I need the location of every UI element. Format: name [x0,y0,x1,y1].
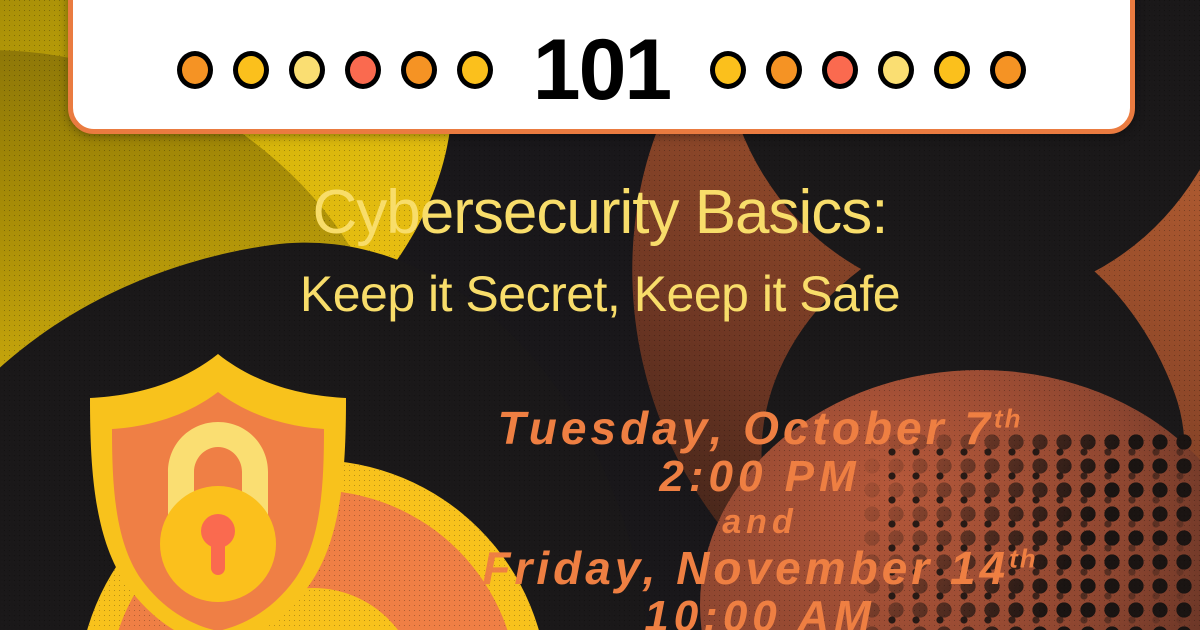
shield-lock-icon [68,348,368,630]
second-time-line: 10:00 AM [360,593,1160,630]
banner-dots-right [710,51,1026,89]
poster-canvas: Lunch and Learn 101 Cybersecurity Basic [0,0,1200,630]
banner-dot [289,51,325,89]
course-number: 101 [511,27,693,113]
first-date-line: Tuesday, October 7th [360,404,1160,453]
banner-dot [878,51,914,89]
first-time-line: 2:00 PM [360,453,1160,501]
banner-cut-off-title: Lunch and Learn [73,0,1130,11]
banner-dots-left [177,51,493,89]
second-date-text: Friday, November 14 [482,542,1009,594]
page-subtitle: Keep it Secret, Keep it Safe [0,267,1200,322]
banner-dot [401,51,437,89]
banner-dot [710,51,746,89]
banner-dot [177,51,213,89]
banner-dot [990,51,1026,89]
second-date-ordinal-suffix: th [1009,544,1038,574]
banner-dot [822,51,858,89]
banner-dot [457,51,493,89]
banner-dot [934,51,970,89]
banner-dot [766,51,802,89]
schedule-conjunction: and [360,500,1160,544]
banner-dot [345,51,381,89]
banner-dot [233,51,269,89]
first-date-ordinal-suffix: th [994,404,1023,434]
banner-content-row: 101 [73,27,1130,113]
second-date-line: Friday, November 14th [360,544,1160,593]
first-date-text: Tuesday, October 7 [498,402,994,454]
page-title: Cybersecurity Basics: [0,180,1200,245]
schedule-block: Tuesday, October 7th 2:00 PM and Friday,… [360,404,1160,630]
header-banner: Lunch and Learn 101 [68,0,1135,134]
